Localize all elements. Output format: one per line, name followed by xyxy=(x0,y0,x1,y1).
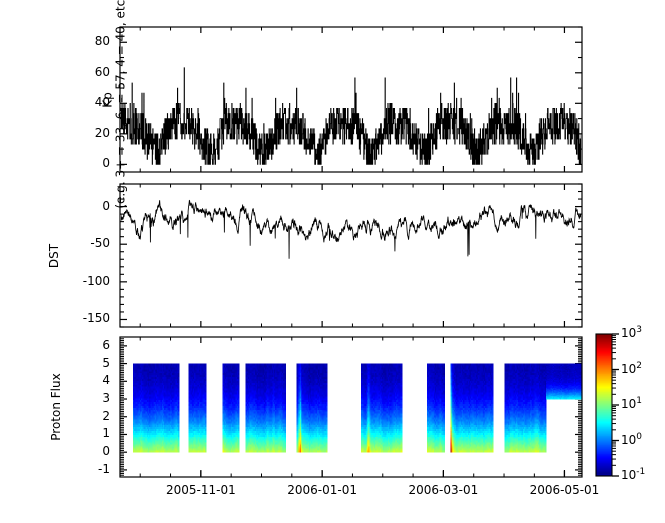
kp-axis-label-sub: (e.g. 3+ = 33, 6- = 57, 4 = 40, etc.) xyxy=(115,0,128,208)
colorbar-tick-label-0: 103 xyxy=(621,325,642,340)
colorbar-tick-base-1: 10 xyxy=(621,362,636,376)
x-tick-label-3: 2006-05-01 xyxy=(530,483,600,497)
colorbar-tick-label-2: 101 xyxy=(621,396,642,411)
colorbar-tick-base-4: 10 xyxy=(621,468,636,482)
colorbar-tick-exp-2: 1 xyxy=(636,396,642,406)
colorbar-tick-exp-3: 0 xyxy=(636,432,642,442)
colorbar-tick-exp-4: -1 xyxy=(636,467,645,477)
x-tick-label-0: 2005-11-01 xyxy=(166,483,236,497)
pf-ytick-label-1: 0 xyxy=(102,444,110,458)
colorbar-tick-label-1: 102 xyxy=(621,361,642,376)
colorbar-tick-base-3: 10 xyxy=(621,433,636,447)
colorbar-tick-label-4: 10-1 xyxy=(621,467,645,482)
pf-ytick-label-0: -1 xyxy=(98,462,110,476)
pf-ytick-label-4: 3 xyxy=(102,391,110,405)
dst-ytick-label-3: -150 xyxy=(83,311,110,325)
pf-ytick-label-5: 4 xyxy=(102,373,110,387)
colorbar-tick-exp-1: 2 xyxy=(636,361,642,371)
pf-ytick-label-6: 5 xyxy=(102,356,110,370)
proton-flux-axis-label: Proton Flux xyxy=(49,373,63,440)
figure-root: 020406080Kp(e.g. 3+ = 33, 6- = 57, 4 = 4… xyxy=(0,0,665,523)
colorbar-tick-base-0: 10 xyxy=(621,326,636,340)
pf-ytick-label-3: 2 xyxy=(102,409,110,423)
dst-ytick-label-0: 0 xyxy=(102,199,110,213)
colorbar-tick-label-3: 100 xyxy=(621,432,642,447)
dst-ytick-label-1: -50 xyxy=(90,236,110,250)
x-tick-label-2: 2006-03-01 xyxy=(409,483,479,497)
colorbar-tick-base-2: 10 xyxy=(621,397,636,411)
pf-ytick-label-7: 6 xyxy=(102,338,110,352)
x-tick-label-1: 2006-01-01 xyxy=(287,483,357,497)
kp-axis-label: Kp(e.g. 3+ = 33, 6- = 57, 4 = 40, etc.) xyxy=(6,87,92,113)
pf-ytick-label-2: 1 xyxy=(102,426,110,440)
dst-ytick-label-2: -100 xyxy=(83,274,110,288)
colorbar-tick-exp-0: 3 xyxy=(636,325,642,335)
kp-axis-label-main: Kp xyxy=(102,0,115,208)
dst-axis-label: DST xyxy=(47,243,61,267)
